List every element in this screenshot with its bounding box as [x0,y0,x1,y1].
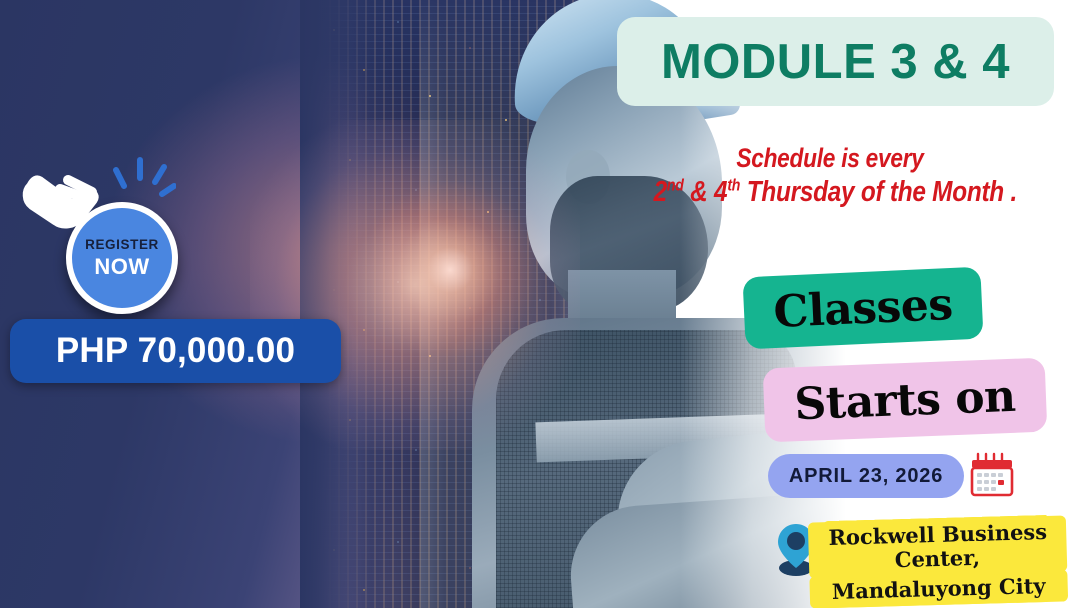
now-label: NOW [94,256,149,278]
schedule-text: Schedule is every 2nd & 4th Thursday of … [620,142,1040,210]
register-now-cta[interactable]: REGISTER NOW [24,150,194,310]
starts-on-badge: Starts on [763,358,1048,443]
schedule-and-4: & 4 [684,176,728,208]
photo-fade-left [300,0,390,608]
classes-label: Classes [772,278,953,337]
date-pill: APRIL 23, 2026 [768,454,964,498]
classes-badge: Classes [742,267,983,350]
starts-on-label: Starts on [794,370,1017,429]
location-text: Rockwell Business Center, Mandaluyong Ci… [812,520,1064,605]
schedule-ordinal-2: 2 [654,176,667,208]
schedule-sup-th: th [727,175,740,194]
price-label: PHP 70,000.00 [56,331,295,371]
module-title: MODULE 3 & 4 [661,34,1010,90]
promo-poster: REGISTER NOW PHP 70,000.00 MODULE 3 & 4 … [0,0,1080,608]
schedule-rest: Thursday of the Month . [740,176,1017,208]
schedule-sup-nd: nd [667,175,684,194]
schedule-line-2: 2nd & 4th Thursday of the Month . [654,175,1007,210]
schedule-line-1: Schedule is every [654,142,1007,175]
price-badge: PHP 70,000.00 [10,319,341,383]
module-banner: MODULE 3 & 4 [617,17,1054,106]
date-label: APRIL 23, 2026 [789,465,943,488]
pointing-hand-cursor-icon [20,154,116,246]
location-line-1: Rockwell Business Center, [812,520,1063,575]
calendar-icon [970,452,1014,498]
map-pin-icon [775,522,817,578]
